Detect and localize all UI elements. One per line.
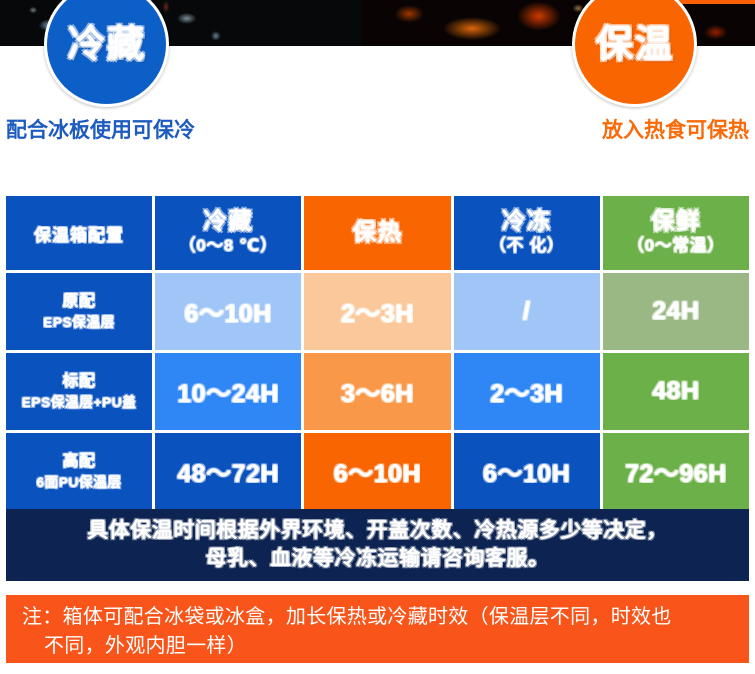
- header-cell-config: 保温箱配置: [6, 196, 152, 270]
- header-cold-label: 冷藏: [203, 209, 253, 235]
- note-dark-box: 具体保温时间根据外界环境、开盖次数、冷热源多少等决定， 母乳、血液等冷冻运输请咨…: [6, 509, 749, 581]
- note-dark-line2: 母乳、血液等冷冻运输请咨询客服。: [206, 546, 550, 572]
- cell-fresh: 48H: [603, 353, 749, 430]
- cell-value: 48～72H: [177, 454, 279, 490]
- note-dark-line1: 具体保温时间根据外界环境、开盖次数、冷热源多少等决定，: [87, 518, 668, 544]
- header-cell-freeze: 冷冻 （不 化）: [454, 196, 600, 270]
- cell-value: 24H: [652, 297, 699, 326]
- header-cell-fresh: 保鲜 （0～常温）: [603, 196, 749, 270]
- row-label-cell: 原配 EPS保温层: [6, 273, 152, 350]
- table-header-row: 保温箱配置 冷藏 （0～8 ℃） 保热 冷冻 （不 化） 保鲜 （0～常温）: [6, 196, 749, 270]
- header-fresh-label: 保鲜: [651, 209, 701, 235]
- header-fresh-sub: （0～常温）: [627, 235, 724, 256]
- cell-cold: 6～10H: [155, 273, 301, 350]
- cell-heat: 6～10H: [304, 433, 450, 510]
- note-orange-line2: 不同，外观内胆一样）: [22, 632, 733, 661]
- cell-cold: 10～24H: [155, 353, 301, 430]
- header-cold-sub: （0～8 ℃）: [179, 235, 278, 256]
- cell-value: 72～96H: [625, 454, 727, 490]
- cell-heat: 3～6H: [304, 353, 450, 430]
- cell-value: 6～10H: [184, 294, 271, 330]
- header-config-label: 保温箱配置: [34, 221, 124, 246]
- cell-freeze: 2～3H: [454, 353, 600, 430]
- row-label-sub: 6面PU保温层: [36, 473, 121, 491]
- cell-value: 3～6H: [341, 374, 414, 410]
- row-label-main: 标配: [62, 372, 95, 393]
- cell-fresh: 24H: [603, 273, 749, 350]
- header-cell-cold: 冷藏 （0～8 ℃）: [155, 196, 301, 270]
- cell-freeze: /: [454, 273, 600, 350]
- spec-table: 保温箱配置 冷藏 （0～8 ℃） 保热 冷冻 （不 化） 保鲜 （0～常温） 原…: [6, 196, 749, 510]
- caption-warm: 放入热食可保热: [602, 120, 749, 141]
- cell-freeze: 6～10H: [454, 433, 600, 510]
- badge-heat-retain-label: 保温: [595, 26, 673, 64]
- cell-value: 48H: [652, 377, 699, 406]
- header-freeze-label: 冷冻: [502, 209, 552, 235]
- cell-heat: 2～3H: [304, 273, 450, 350]
- badge-cold-storage: 冷藏: [44, 0, 169, 107]
- product-spec-page: 冷藏 保温 配合冰板使用可保冷 放入热食可保热 保温箱配置 冷藏 （0～8 ℃）…: [0, 0, 755, 674]
- badge-heat-retain: 保温: [572, 0, 697, 107]
- note-orange-box: 注：箱体可配合冰袋或冰盒，加长保热或冷藏时效（保温层不同，时效也 不同，外观内胆…: [6, 595, 749, 663]
- cell-value: /: [523, 297, 530, 326]
- table-row: 原配 EPS保温层 6～10H 2～3H / 24H: [6, 273, 749, 350]
- note-orange-line1: 注：箱体可配合冰袋或冰盒，加长保热或冷藏时效（保温层不同，时效也: [22, 603, 733, 632]
- badge-cold-storage-label: 冷藏: [67, 26, 145, 64]
- cell-value: 2～3H: [341, 294, 414, 330]
- row-label-cell: 高配 6面PU保温层: [6, 433, 152, 510]
- header-heat-label: 保热: [352, 220, 402, 246]
- row-label-sub: EPS保温层+PU盖: [22, 393, 137, 411]
- cell-value: 2～3H: [490, 374, 563, 410]
- cell-fresh: 72～96H: [603, 433, 749, 510]
- caption-cold: 配合冰板使用可保冷: [6, 120, 195, 141]
- header-cell-heat: 保热: [304, 196, 450, 270]
- table-row: 高配 6面PU保温层 48～72H 6～10H 6～10H 72～96H: [6, 433, 749, 510]
- table-row: 标配 EPS保温层+PU盖 10～24H 3～6H 2～3H 48H: [6, 353, 749, 430]
- cell-cold: 48～72H: [155, 433, 301, 510]
- cell-value: 10～24H: [177, 374, 279, 410]
- row-label-main: 高配: [62, 452, 95, 473]
- cell-value: 6～10H: [334, 454, 421, 490]
- row-label-cell: 标配 EPS保温层+PU盖: [6, 353, 152, 430]
- cell-value: 6～10H: [483, 454, 570, 490]
- row-label-sub: EPS保温层: [43, 313, 115, 331]
- header-freeze-sub: （不 化）: [489, 235, 564, 256]
- row-label-main: 原配: [62, 292, 95, 313]
